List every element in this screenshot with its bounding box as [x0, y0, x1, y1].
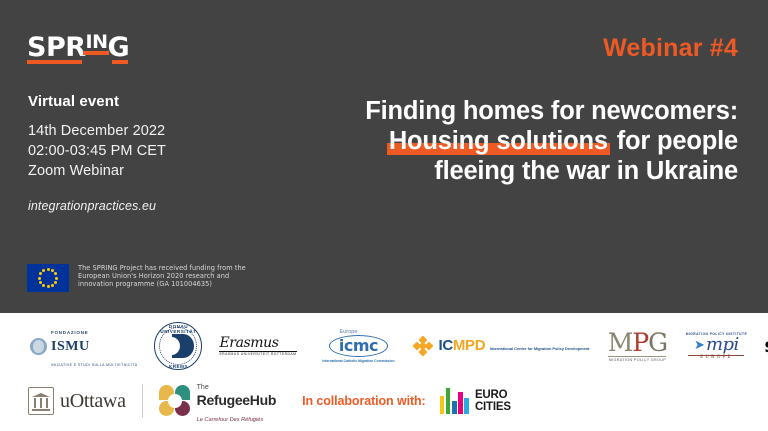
icmpd-name-part-1: IC	[438, 337, 452, 354]
partner-logo-eurocities[interactable]: EURO CITIES	[440, 388, 511, 414]
ismu-sub-label: INIZIATIVE E STUDI SULLA MULTIETNICITÀ	[51, 363, 137, 367]
mpi-sub-label: EUROPE	[700, 355, 733, 360]
event-platform: Zoom Webinar	[28, 161, 166, 181]
icmc-sub-label: International Catholic Migration Commiss…	[322, 359, 394, 363]
four-arrows-icon	[412, 336, 433, 357]
refugeehub-line-2: RefugeeHub	[197, 392, 276, 408]
partner-logo-uottawa[interactable]: uOttawa	[28, 387, 126, 415]
event-date: 14th December 2022	[28, 121, 166, 141]
title-highlight: Housing solutions	[387, 126, 610, 156]
partner-logo-row-secondary: uOttawa The RefugeeHub Le Carrefour Des …	[28, 379, 511, 423]
donau-top-label: DONAU UNIVERSITÄT	[154, 324, 202, 334]
divider-line	[608, 356, 666, 357]
refugeehub-line-1: The	[197, 384, 209, 391]
logo-underline-3	[112, 60, 128, 64]
hero-banner: SPRING Virtual event 14th December 2022 …	[0, 0, 768, 313]
collaboration-label: In collaboration with:	[302, 394, 426, 408]
color-wheel-icon	[159, 385, 191, 417]
webinar-number: Webinar #4	[603, 34, 738, 63]
eu-funding-text: The SPRING Project has received funding …	[78, 264, 246, 289]
partner-logo-mpg[interactable]: MPG MIGRATION POLICY GROUP	[606, 330, 668, 362]
icmpd-sub-label: International Centre for Migration Polic…	[490, 346, 590, 351]
divider-line	[219, 351, 297, 352]
eurocities-line-2: CITIES	[475, 401, 511, 413]
logo-text-g: G	[108, 32, 130, 63]
vertical-divider	[142, 384, 143, 418]
partner-logo-erasmus-university[interactable]: Erasmus ERASMUS UNIVERSITEIT ROTTERDAM	[219, 336, 304, 357]
refugeehub-line-3: Le Carrefour Des Réfugiés	[197, 417, 264, 423]
title-line-2: Housing solutions for people	[210, 126, 738, 156]
title-line-1: Finding homes for newcomers:	[210, 96, 738, 126]
logo-text-spr: SPR	[27, 32, 86, 63]
event-details: 14th December 2022 02:00-03:45 PM CET Zo…	[28, 121, 166, 181]
logo-underline-1	[27, 60, 82, 64]
mpg-sub-label: MIGRATION POLICY GROUP	[609, 358, 666, 362]
spring-logo-wordmark: SPRING	[27, 27, 129, 63]
eurocities-line-1: EURO	[475, 389, 507, 401]
eurocities-bars-icon	[440, 388, 469, 414]
partner-logo-icmpd[interactable]: ICMPD International Centre for Migration…	[412, 336, 589, 357]
title-line-3: fleeing the war in Ukraine	[210, 156, 738, 186]
partner-logo-refugee-hub[interactable]: The RefugeeHub Le Carrefour Des Réfugiés	[159, 377, 276, 425]
bird-icon: ➤	[694, 338, 705, 351]
erasmus-signature: Erasmus	[219, 336, 278, 350]
partner-logo-icmc[interactable]: Europe icmc International Catholic Migra…	[321, 329, 395, 363]
ismu-top-label: FONDAZIONE	[51, 330, 88, 335]
spring-logo: SPRING	[27, 27, 152, 67]
event-time: 02:00-03:45 PM CET	[28, 141, 166, 161]
logo-text-in: IN	[86, 31, 108, 53]
icmpd-name-part-2: MPD	[453, 337, 485, 354]
partner-logo-solidar[interactable]: solidar	[764, 335, 768, 357]
mpi-name: mpi	[706, 336, 739, 354]
title-line-2-rest: for people	[610, 127, 738, 155]
partner-logo-mpi-europe[interactable]: MIGRATION POLICY INSTITUTE ➤ mpi EUROPE	[685, 332, 747, 361]
european-union-flag-icon	[27, 264, 69, 292]
partner-logo-ismu[interactable]: FONDAZIONE ISMU INIZIATIVE E STUDI SULLA…	[30, 322, 137, 370]
event-type-label: Virtual event	[28, 93, 119, 110]
mpg-monogram: MPG	[608, 330, 667, 355]
eu-funding-statement: The SPRING Project has received funding …	[27, 264, 246, 292]
partner-logo-footer: FONDAZIONE ISMU INIZIATIVE E STUDI SULLA…	[0, 313, 768, 431]
logo-underline-2	[83, 51, 109, 55]
page-title: Finding homes for newcomers: Housing sol…	[210, 96, 738, 186]
globe-icon	[30, 338, 47, 355]
building-crest-icon	[28, 387, 54, 415]
icmc-name: icmc	[329, 335, 388, 357]
ismu-name: ISMU	[51, 339, 90, 354]
partner-logo-donau-universitaet[interactable]: DONAU UNIVERSITÄT KREMS	[154, 322, 202, 370]
event-website-url[interactable]: integrationpractices.eu	[28, 199, 156, 213]
donau-bottom-label: KREMS	[154, 364, 202, 369]
uottawa-name: uOttawa	[60, 390, 126, 413]
erasmus-sub-label: ERASMUS UNIVERSITEIT ROTTERDAM	[219, 352, 296, 356]
partner-logo-row-primary: FONDAZIONE ISMU INIZIATIVE E STUDI SULLA…	[30, 323, 768, 369]
